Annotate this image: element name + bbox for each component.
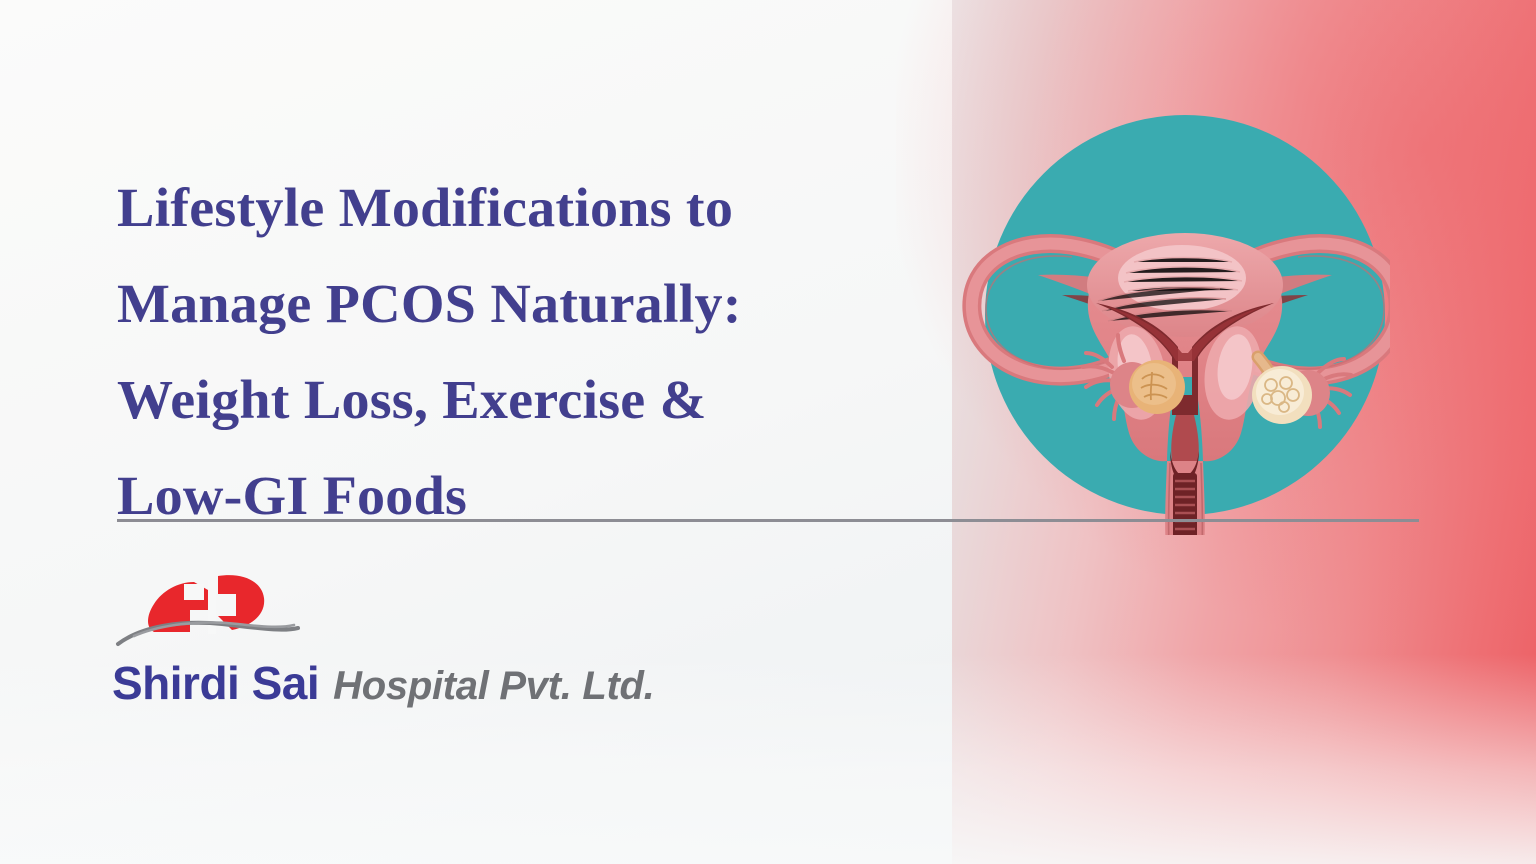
title-slide: Lifestyle Modifications to Manage PCOS N… [0, 0, 1536, 864]
title-line-4: Low-GI Foods [117, 448, 892, 544]
uterus-ovaries-illustration [920, 95, 1390, 535]
logo-brand-name: Shirdi Sai [112, 656, 319, 710]
page-title: Lifestyle Modifications to Manage PCOS N… [117, 160, 877, 544]
horizontal-divider [117, 519, 1419, 522]
title-line-2: Manage PCOS Naturally: [117, 256, 892, 352]
shirdi-sai-hospital-logo-mark [112, 570, 332, 652]
title-line-1: Lifestyle Modifications to [117, 160, 892, 256]
logo: Shirdi Sai Hospital Pvt. Ltd. [112, 570, 732, 710]
logo-wordmark: Shirdi Sai Hospital Pvt. Ltd. [112, 656, 732, 710]
logo-brand-suffix: Hospital Pvt. Ltd. [333, 664, 654, 709]
title-line-3: Weight Loss, Exercise & [117, 352, 892, 448]
